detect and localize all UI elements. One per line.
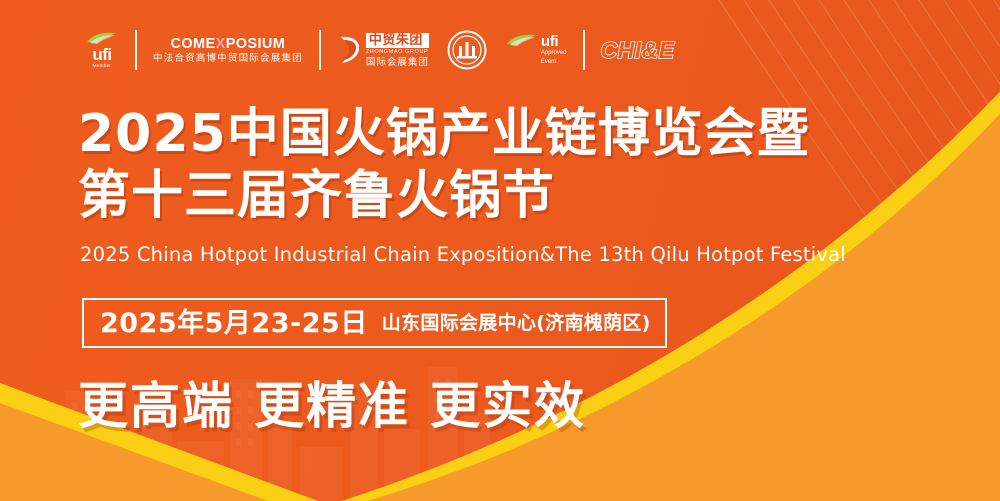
slogan-part-1: 更高端 [78,377,234,435]
logo-ufi-member: ufi Member [76,26,128,74]
slogan-part-3: 更实效 [430,377,586,435]
ufi-approved-line1: Approved [541,50,567,58]
event-title-line2: 第十三届齐鲁火锅节 [78,165,810,227]
date-venue-box: 2025年5月23-25日 山东国际会展中心(济南槐荫区) [82,298,667,348]
zhongmao-english-name: ZHONGMAO GROUP [366,50,429,56]
logo-divider [319,30,321,70]
logo-comexposium: COMEXPOSIUM 中法合资高博中贸国际会展集团 [144,26,312,74]
sponsor-logo-strip: ufi Member COMEXPOSIUM 中法合资高博中贸国际会展集团 中贸… [76,26,684,74]
comexposium-word-a: COME [171,36,216,52]
event-subtitle-english: 2025 China Hotpot Industrial Chain Expos… [80,243,846,266]
logo-zhongmao-group: 中贸朱团 ZHONGMAO GROUP 国际会展集团 [328,26,438,74]
logo-divider [135,30,137,70]
ufi-approved-wordmark: ufi [541,34,567,49]
ufi-wing-icon [505,34,539,47]
event-slogan: 更高端更精准更实效 [78,377,586,436]
logo-ufi-approved-event: ufi Approved Event [496,26,576,74]
comexposium-chinese-name: 中法合资高博中贸国际会展集团 [153,54,303,64]
logo-divider [583,30,585,70]
event-date: 2025年5月23-25日 [100,310,368,337]
zhongmao-chinese-subname: 国际会展集团 [366,58,429,68]
ufi-wing-icon [85,32,119,45]
event-title-line1: 2025中国火锅产业链博览会暨 [78,103,810,165]
slogan-part-2: 更精准 [254,377,410,435]
expo-banner: ufi Member COMEXPOSIUM 中法合资高博中贸国际会展集团 中贸… [0,0,1000,501]
zhongmao-emblem-icon [337,35,363,65]
ufi-wordmark: ufi [92,46,111,63]
comexposium-word-b: POSIUM [226,36,286,52]
comexposium-word-x: X [216,36,226,52]
shandong-seal-icon [447,30,487,70]
comexposium-wordmark: COMEXPOSIUM [171,37,286,52]
event-venue: 山东国际会展中心(济南槐荫区) [382,314,651,333]
ufi-member-label: Member [93,64,112,69]
logo-shandong-seal [438,26,496,74]
chie-wordmark: CHI&E [601,37,675,64]
logo-chie: CHI&E [592,26,684,74]
event-title: 2025中国火锅产业链博览会暨 第十三届齐鲁火锅节 [78,103,810,227]
ufi-approved-line2: Event [541,59,567,67]
zhongmao-chinese-name: 中贸朱团 [366,33,429,48]
